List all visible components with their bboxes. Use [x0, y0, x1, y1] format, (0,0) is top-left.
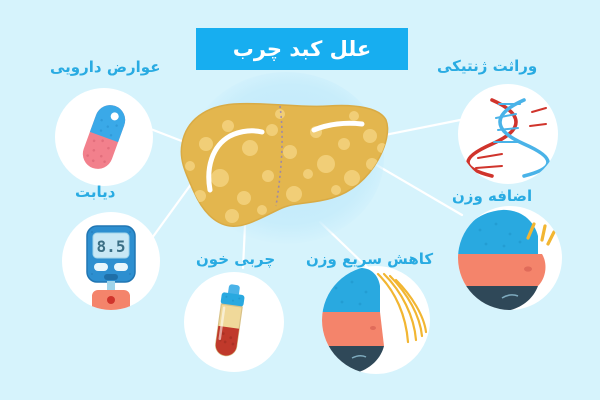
- label-blood-lipids: چربی خون: [196, 250, 275, 268]
- dna-helix-icon: [458, 84, 558, 184]
- slim-body-motion-icon: [322, 266, 430, 374]
- label-rapid-weight-loss: کاهش سریع وزن: [306, 250, 433, 268]
- blood-test-tube-icon: [184, 272, 284, 372]
- icon-bubble-overweight[interactable]: [458, 206, 562, 310]
- page-title: علل کبد چرب: [233, 37, 372, 61]
- overweight-body-icon: [458, 206, 562, 310]
- icon-bubble-rapid-weight-loss[interactable]: [322, 266, 430, 374]
- label-diabetes: دیابت: [75, 183, 115, 201]
- liver-illustration: [176, 86, 392, 236]
- glucometer-icon: 8.5: [62, 212, 160, 310]
- label-overweight: اضافه وزن: [452, 187, 532, 205]
- infographic-canvas: عوارض دارویی وراثت ژنت: [0, 0, 600, 400]
- icon-bubble-genetic-heredity[interactable]: [458, 84, 558, 184]
- label-drug-side-effects: عوارض دارویی: [50, 58, 160, 76]
- label-genetic-heredity: وراثت ژنتیکی: [437, 57, 537, 75]
- icon-bubble-drug-side-effects[interactable]: [55, 88, 153, 186]
- glucometer-reading: 8.5: [97, 237, 126, 256]
- icon-bubble-blood-lipids[interactable]: [184, 272, 284, 372]
- icon-bubble-diabetes[interactable]: 8.5: [62, 212, 160, 310]
- title-banner: علل کبد چرب: [196, 28, 408, 70]
- capsule-pill-icon: [55, 88, 153, 186]
